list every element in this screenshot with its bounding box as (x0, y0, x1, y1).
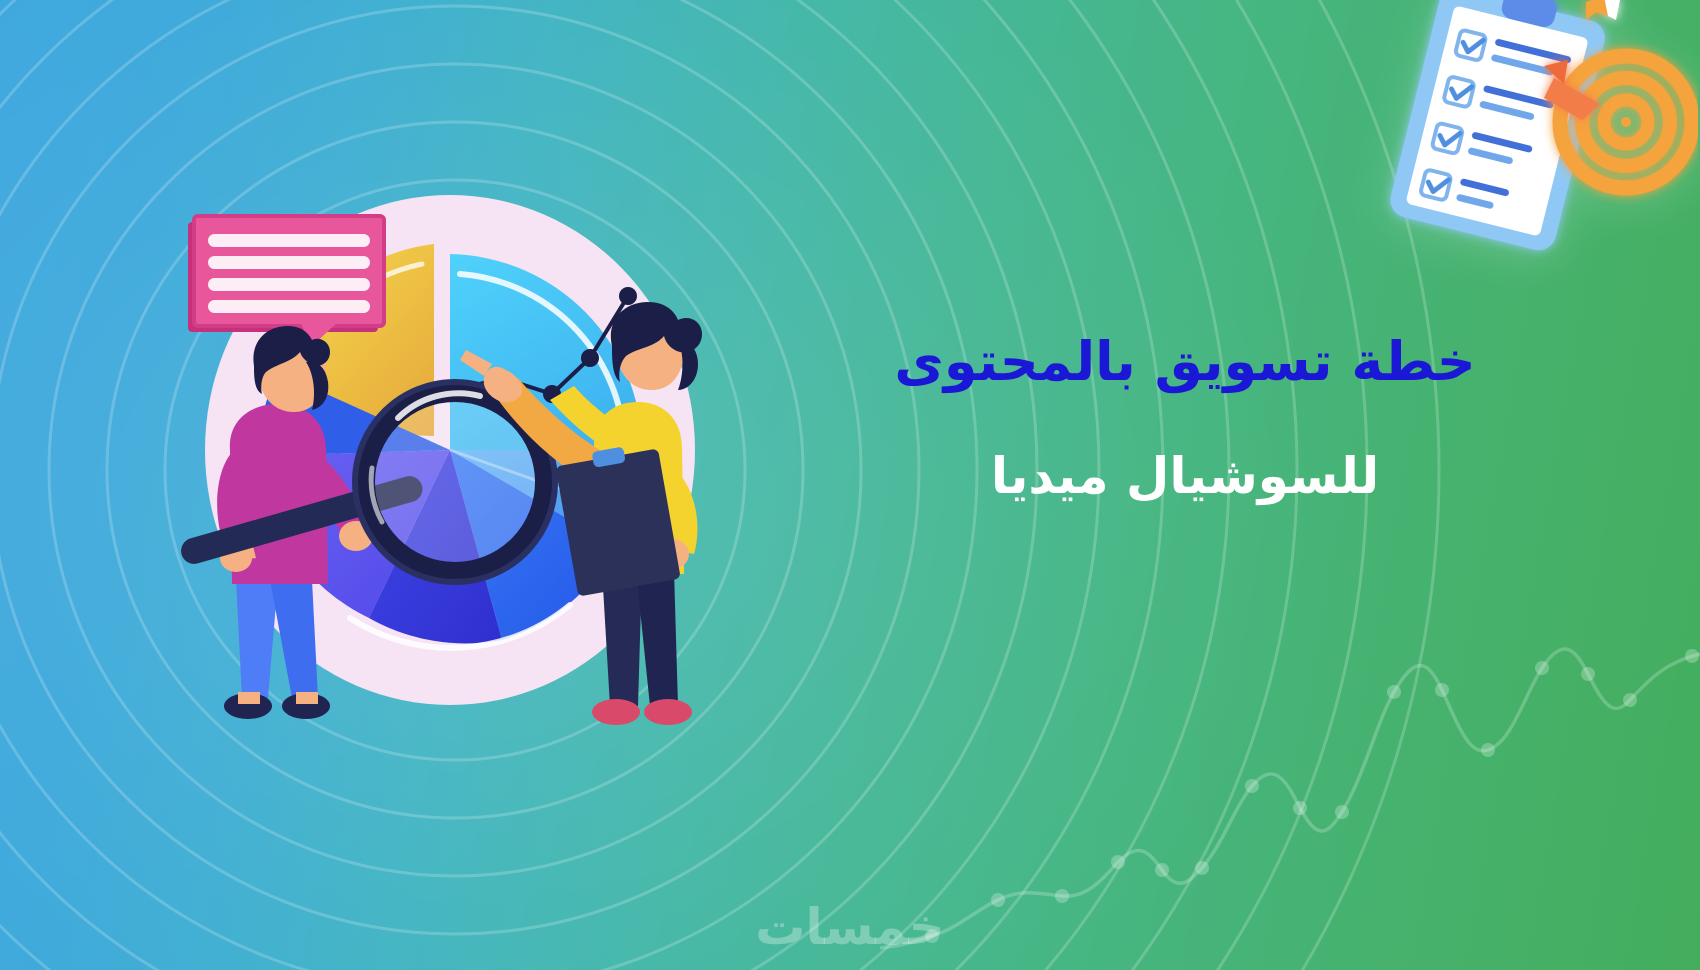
headline-line-2: للسوشيال ميديا (770, 446, 1600, 506)
headline-line-1: خطة تسويق بالمحتوى (770, 330, 1600, 394)
target-icon (1560, 56, 1692, 188)
headline-block: خطة تسويق بالمحتوى للسوشيال ميديا (770, 330, 1600, 506)
banner-canvas: خطة تسويق بالمحتوى للسوشيال ميديا خمسات (0, 0, 1700, 970)
ribbon-icon (1586, 0, 1620, 20)
checklist-with-target-icon (1368, 0, 1698, 274)
pie-chart-analysis-illustration (150, 150, 770, 750)
